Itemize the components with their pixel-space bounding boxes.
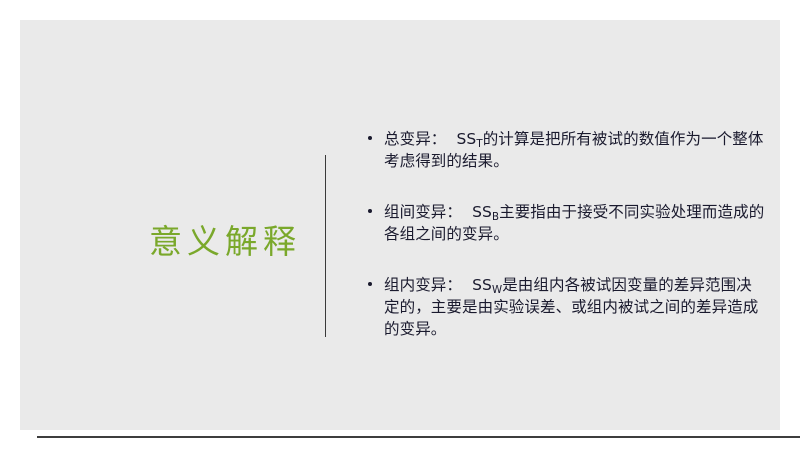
- bullet-term: 总变异：: [384, 130, 446, 148]
- bullet-text: 总变异： SST的计算是把所有被试的数值作为一个整体考虑得到的结果。: [384, 128, 765, 172]
- bullet-text: 组内变异： SSW是由组内各被试因变量的差异范围决定的，主要是由实验误差、或组内…: [384, 274, 765, 340]
- slide-title: 意义解释: [144, 225, 301, 261]
- bullet-symbol-subscript: T: [476, 139, 482, 150]
- bullet-term: 组间变异：: [384, 203, 462, 221]
- bullet-list: 总变异： SST的计算是把所有被试的数值作为一个整体考虑得到的结果。 组间变异：…: [365, 128, 765, 340]
- slide-title-block: 意义解释: [130, 216, 315, 271]
- bullet-symbol-subscript: B: [492, 212, 499, 223]
- bullet-symbol-base: SS: [472, 276, 492, 294]
- list-item: 总变异： SST的计算是把所有被试的数值作为一个整体考虑得到的结果。: [365, 128, 765, 172]
- bottom-divider: [37, 436, 800, 438]
- bullet-symbol-spacer: [462, 203, 472, 221]
- bullet-text: 组间变异： SSB主要指由于接受不同实验处理而造成的各组之间的变异。: [384, 201, 765, 245]
- bullet-term: 组内变异：: [384, 276, 462, 294]
- bullet-dot-icon: [368, 209, 372, 213]
- vertical-divider: [325, 155, 326, 337]
- bullet-symbol-base: SS: [472, 203, 492, 221]
- bullet-symbol-subscript: W: [492, 285, 502, 296]
- bullet-symbol-base: SS: [456, 130, 476, 148]
- slide-canvas: 意义解释 总变异： SST的计算是把所有被试的数值作为一个整体考虑得到的结果。 …: [20, 20, 780, 430]
- bullet-dot-icon: [368, 136, 372, 140]
- list-item: 组间变异： SSB主要指由于接受不同实验处理而造成的各组之间的变异。: [365, 201, 765, 245]
- slide-root: 意义解释 总变异： SST的计算是把所有被试的数值作为一个整体考虑得到的结果。 …: [0, 0, 800, 450]
- list-item: 组内变异： SSW是由组内各被试因变量的差异范围决定的，主要是由实验误差、或组内…: [365, 274, 765, 340]
- bullet-symbol-spacer: [462, 276, 472, 294]
- bullet-dot-icon: [368, 282, 372, 286]
- bullet-symbol-spacer: [446, 130, 456, 148]
